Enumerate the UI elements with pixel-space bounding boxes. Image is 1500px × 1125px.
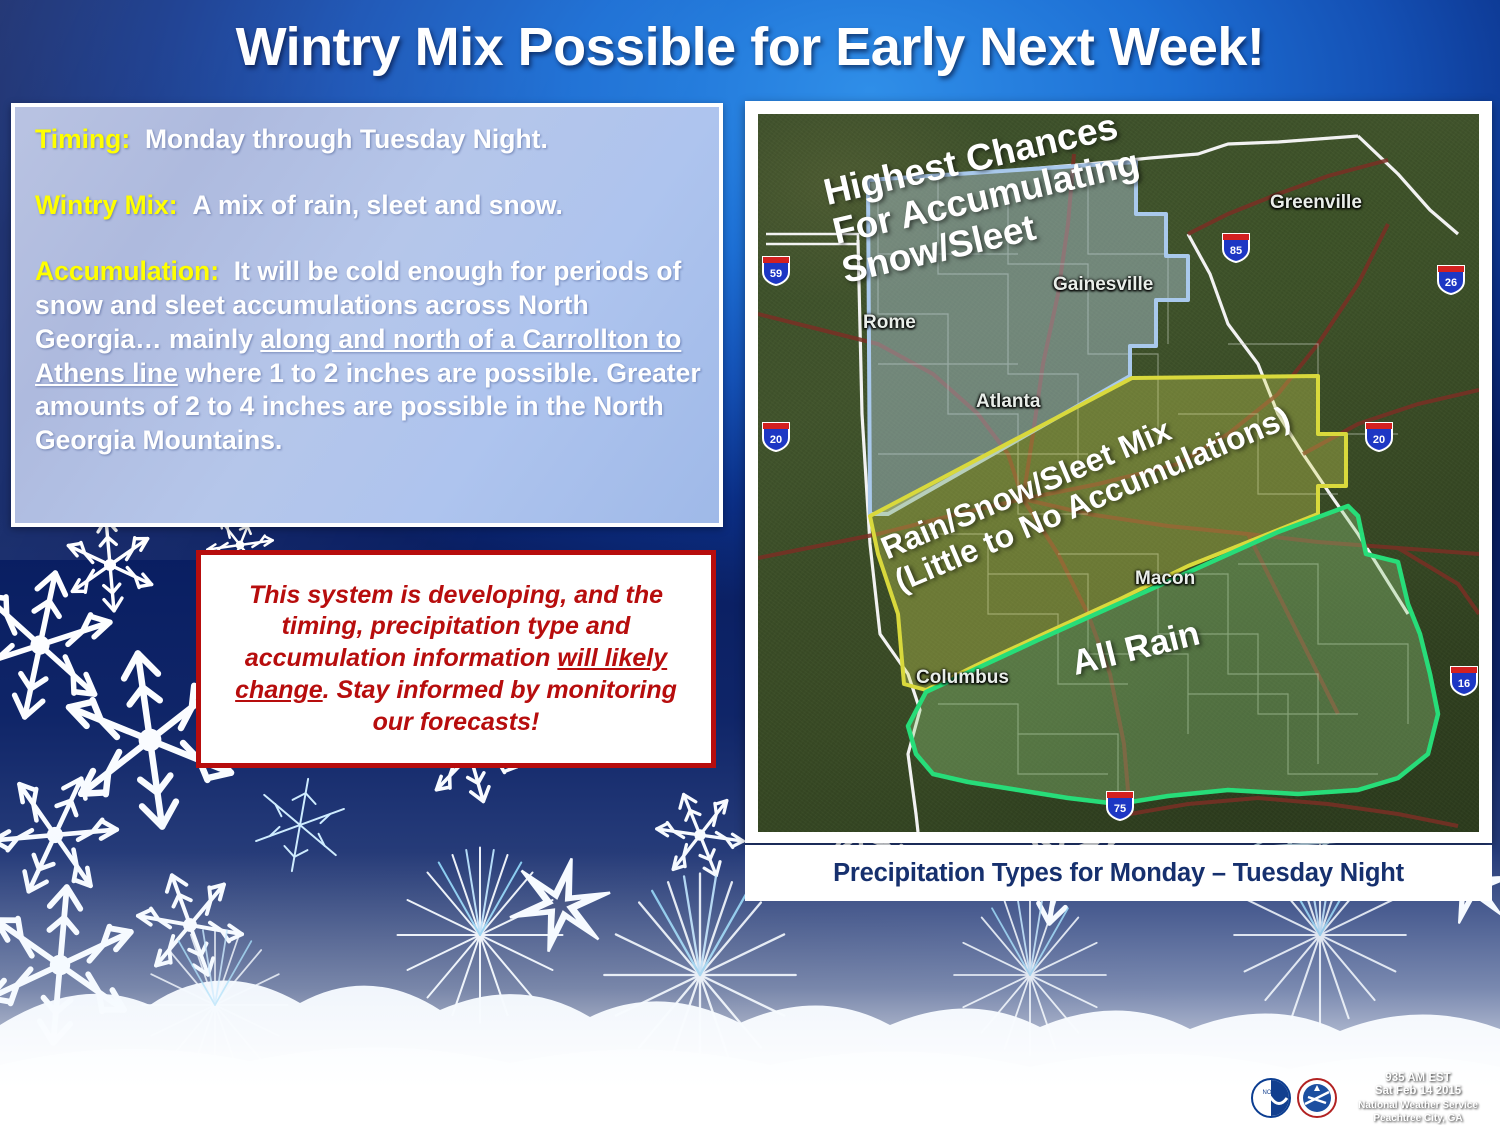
- accumulation-line: Accumulation: It will be cold enough for…: [35, 255, 701, 458]
- warning-text: This system is developing, and the timin…: [217, 580, 695, 739]
- footer-location: Peachtree City, GA: [1344, 1113, 1492, 1124]
- svg-text:NOAA: NOAA: [1262, 1090, 1279, 1096]
- map-image: Greenville Gainesville Rome Atlanta Maco…: [758, 114, 1479, 832]
- agency-logos: NOAA: [1250, 1077, 1338, 1119]
- timing-label: Timing:: [35, 124, 130, 154]
- interstate-shields: 59 20 85 26 20 75 16: [758, 114, 1479, 832]
- nws-footer: NOAA 935 AM EST Sat Feb 14 2015 National…: [1250, 1075, 1492, 1121]
- map-panel: Greenville Gainesville Rome Atlanta Maco…: [745, 101, 1492, 843]
- page-title: Wintry Mix Possible for Early Next Week!: [0, 16, 1500, 78]
- accumulation-label: Accumulation:: [35, 256, 219, 286]
- svg-text:16: 16: [1458, 678, 1470, 690]
- svg-text:20: 20: [1373, 434, 1385, 446]
- svg-text:59: 59: [770, 268, 782, 280]
- map-caption-bar: Precipitation Types for Monday – Tuesday…: [745, 845, 1492, 901]
- timing-text: Monday through Tuesday Night.: [145, 124, 548, 154]
- footer-time: 935 AM EST: [1344, 1072, 1492, 1085]
- spacer-2: [35, 233, 701, 255]
- svg-text:85: 85: [1230, 245, 1242, 257]
- warning-disclaimer-box: This system is developing, and the timin…: [196, 550, 716, 768]
- timing-line: Timing: Monday through Tuesday Night.: [35, 123, 701, 157]
- wintry-mix-label: Wintry Mix:: [35, 190, 178, 220]
- footer-text-block: 935 AM EST Sat Feb 14 2015 National Weat…: [1344, 1072, 1492, 1124]
- wintry-mix-line: Wintry Mix: A mix of rain, sleet and sno…: [35, 189, 701, 223]
- noaa-logo-icon: NOAA: [1250, 1077, 1292, 1119]
- poster-canvas: Wintry Mix Possible for Early Next Week!…: [0, 0, 1500, 1125]
- warning-text-part2: . Stay informed by monitoring our foreca…: [323, 676, 677, 736]
- spacer-1: [35, 167, 701, 189]
- map-caption-text: Precipitation Types for Monday – Tuesday…: [833, 859, 1404, 888]
- svg-text:20: 20: [770, 434, 782, 446]
- footer-office: National Weather Service: [1344, 1100, 1492, 1111]
- wintry-mix-text: A mix of rain, sleet and snow.: [192, 190, 563, 220]
- nws-logo-icon: [1296, 1077, 1338, 1119]
- svg-text:75: 75: [1114, 803, 1126, 815]
- forecast-info-box: Timing: Monday through Tuesday Night. Wi…: [11, 103, 723, 527]
- svg-text:26: 26: [1445, 277, 1457, 289]
- footer-date: Sat Feb 14 2015: [1344, 1085, 1492, 1098]
